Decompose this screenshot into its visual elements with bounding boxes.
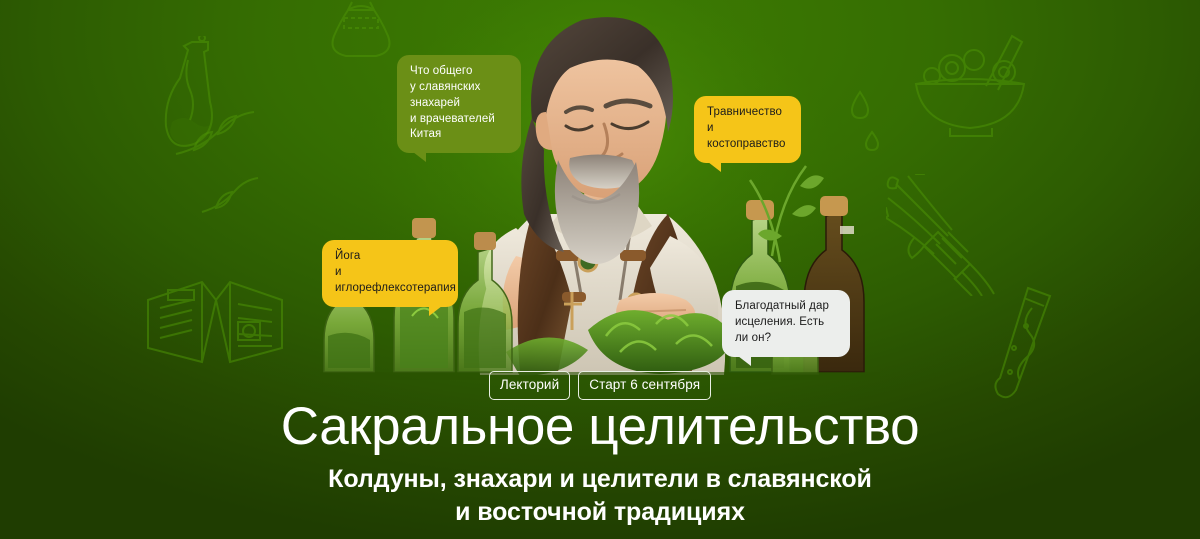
leaf-icon (172, 108, 258, 160)
badge-format[interactable]: Лекторий (489, 371, 570, 400)
herb-bundle-icon (886, 174, 1004, 296)
leaf-icon (200, 176, 260, 216)
badge-row: Лекторий Старт 6 сентября (0, 371, 1200, 400)
page-subtitle: Колдуны, знахари и целители в славянской… (0, 463, 1200, 529)
speech-bubble-yoga: Йога и иглорефлексотерапия (322, 240, 458, 307)
flask-icon (158, 36, 222, 160)
speech-bubble-herbal: Травничество и костоправство (694, 96, 801, 163)
speech-bubble-china: Что общего у славянских знахарей и враче… (397, 55, 521, 153)
page-title: Сакральное целительство (0, 398, 1200, 455)
badge-start-date[interactable]: Старт 6 сентября (578, 371, 711, 400)
speech-bubble-gift: Благодатный дар исцеления. Есть ли он? (722, 290, 850, 357)
open-book-icon (142, 278, 286, 374)
hero-banner: Что общего у славянских знахарей и враче… (0, 0, 1200, 539)
mortar-pestle-icon (908, 34, 1032, 140)
